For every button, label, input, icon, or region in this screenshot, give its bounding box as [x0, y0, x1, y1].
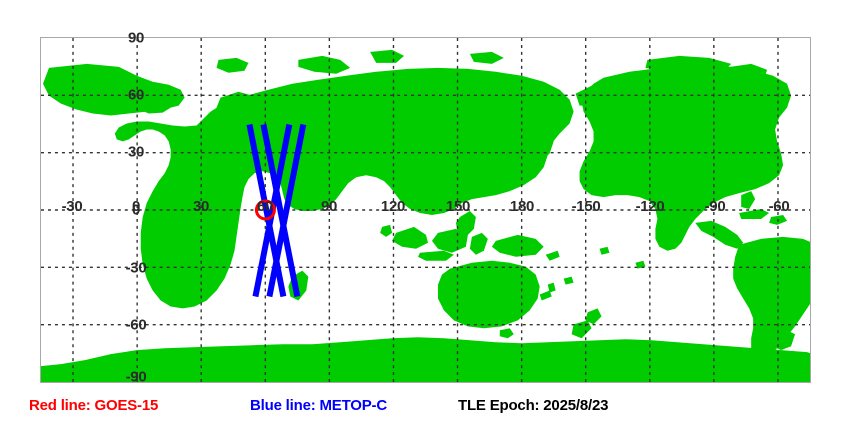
lat-tick--90: -90: [126, 370, 147, 385]
lon-tick-180: 180: [510, 199, 534, 214]
world-map-panel[interactable]: [40, 37, 811, 383]
lat-tick--30: -30: [126, 261, 147, 276]
lat-tick-0: 0: [132, 203, 140, 218]
legend-tle-epoch: TLE Epoch: 2025/8/23: [458, 396, 608, 416]
lon-tick--30: -30: [62, 199, 83, 214]
lat-tick-90: 90: [128, 31, 144, 46]
legend-bar: Red line: GOES-15 Blue line: METOP-C TLE…: [0, 396, 850, 422]
legend-blue-line-metop-c: Blue line: METOP-C: [250, 396, 387, 416]
world-map-canvas: [41, 38, 810, 382]
lon-tick--150: -150: [572, 199, 601, 214]
lon-tick-90: 90: [321, 199, 337, 214]
satellite-ground-track-map: -30 0 30 60 90 120 150 180 -150 -120 -90…: [0, 0, 850, 425]
lat-tick-60: 60: [128, 88, 144, 103]
legend-red-line-goes-15: Red line: GOES-15: [29, 396, 158, 416]
lon-tick--120: -120: [636, 199, 665, 214]
lon-tick--90: -90: [705, 199, 726, 214]
lon-tick-60: 60: [257, 199, 273, 214]
lon-tick-150: 150: [446, 199, 470, 214]
lon-tick-30: 30: [193, 199, 209, 214]
lon-tick-120: 120: [381, 199, 405, 214]
lat-tick-30: 30: [128, 145, 144, 160]
lon-tick--60: -60: [769, 199, 790, 214]
lat-tick--60: -60: [126, 318, 147, 333]
